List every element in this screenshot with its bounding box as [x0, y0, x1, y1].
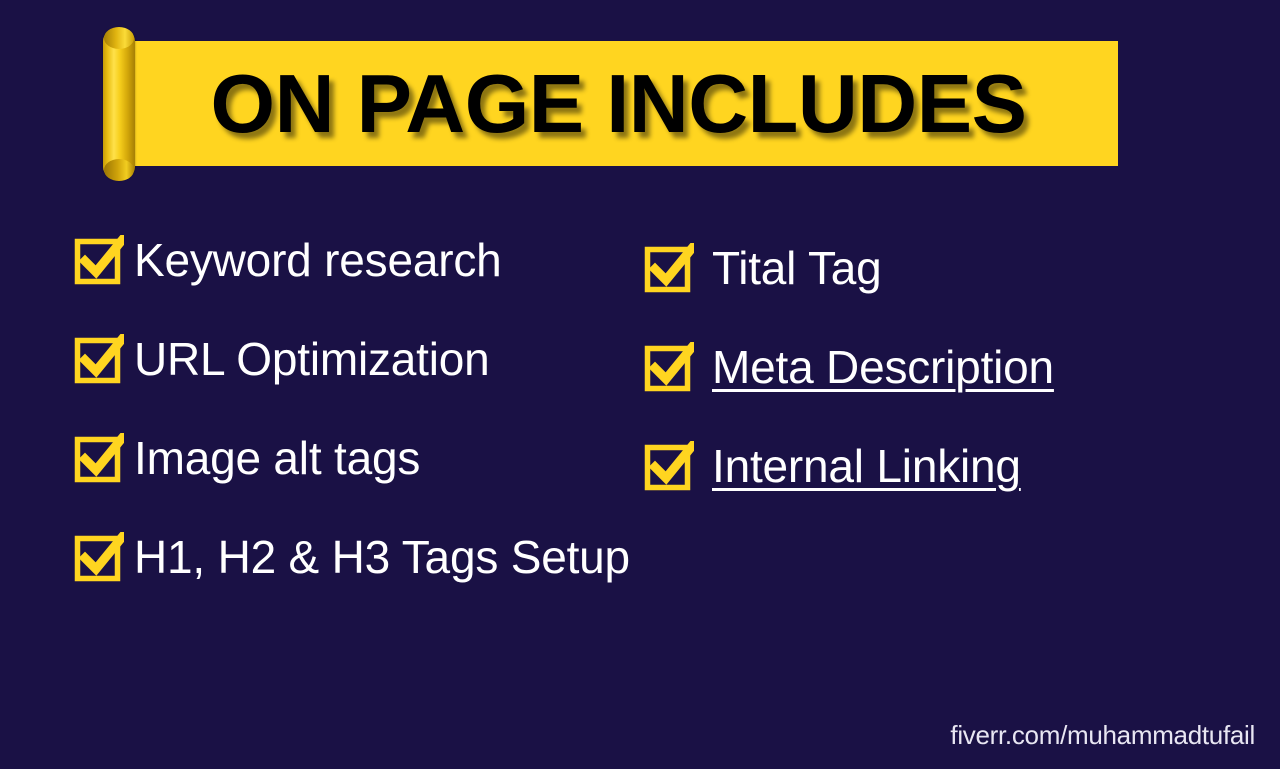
checkbox-checked-icon — [74, 433, 124, 483]
list-item[interactable]: Tital Tag — [644, 234, 1204, 302]
list-item[interactable]: Image alt tags — [74, 424, 654, 492]
list-item-label: H1, H2 & H3 Tags Setup — [134, 533, 630, 581]
checklist-column-right: Tital Tag Meta Description Internal Link… — [644, 234, 1204, 531]
checkbox-checked-icon — [644, 441, 694, 491]
checkbox-checked-icon — [74, 235, 124, 285]
list-item[interactable]: Keyword research — [74, 226, 654, 294]
checkbox-checked-icon — [74, 334, 124, 384]
list-item[interactable]: Meta Description — [644, 333, 1204, 401]
list-item-label: Image alt tags — [134, 434, 420, 482]
checkbox-checked-icon — [644, 243, 694, 293]
list-item-label: Keyword research — [134, 236, 502, 284]
checklist-area: Keyword research URL Optimization Image … — [0, 0, 1280, 769]
checkbox-checked-icon — [644, 342, 694, 392]
list-item-label: Meta Description — [712, 343, 1054, 391]
checklist-column-left: Keyword research URL Optimization Image … — [74, 226, 654, 622]
list-item[interactable]: URL Optimization — [74, 325, 654, 393]
checkbox-checked-icon — [74, 532, 124, 582]
list-item-label: Tital Tag — [712, 244, 882, 292]
footer-credit-link[interactable]: fiverr.com/muhammadtufail — [950, 720, 1255, 751]
list-item[interactable]: H1, H2 & H3 Tags Setup — [74, 523, 654, 591]
list-item[interactable]: Internal Linking — [644, 432, 1204, 500]
slide-canvas: ON PAGE INCLUDES Keyword research — [0, 0, 1280, 769]
list-item-label: URL Optimization — [134, 335, 490, 383]
list-item-label: Internal Linking — [712, 442, 1021, 490]
